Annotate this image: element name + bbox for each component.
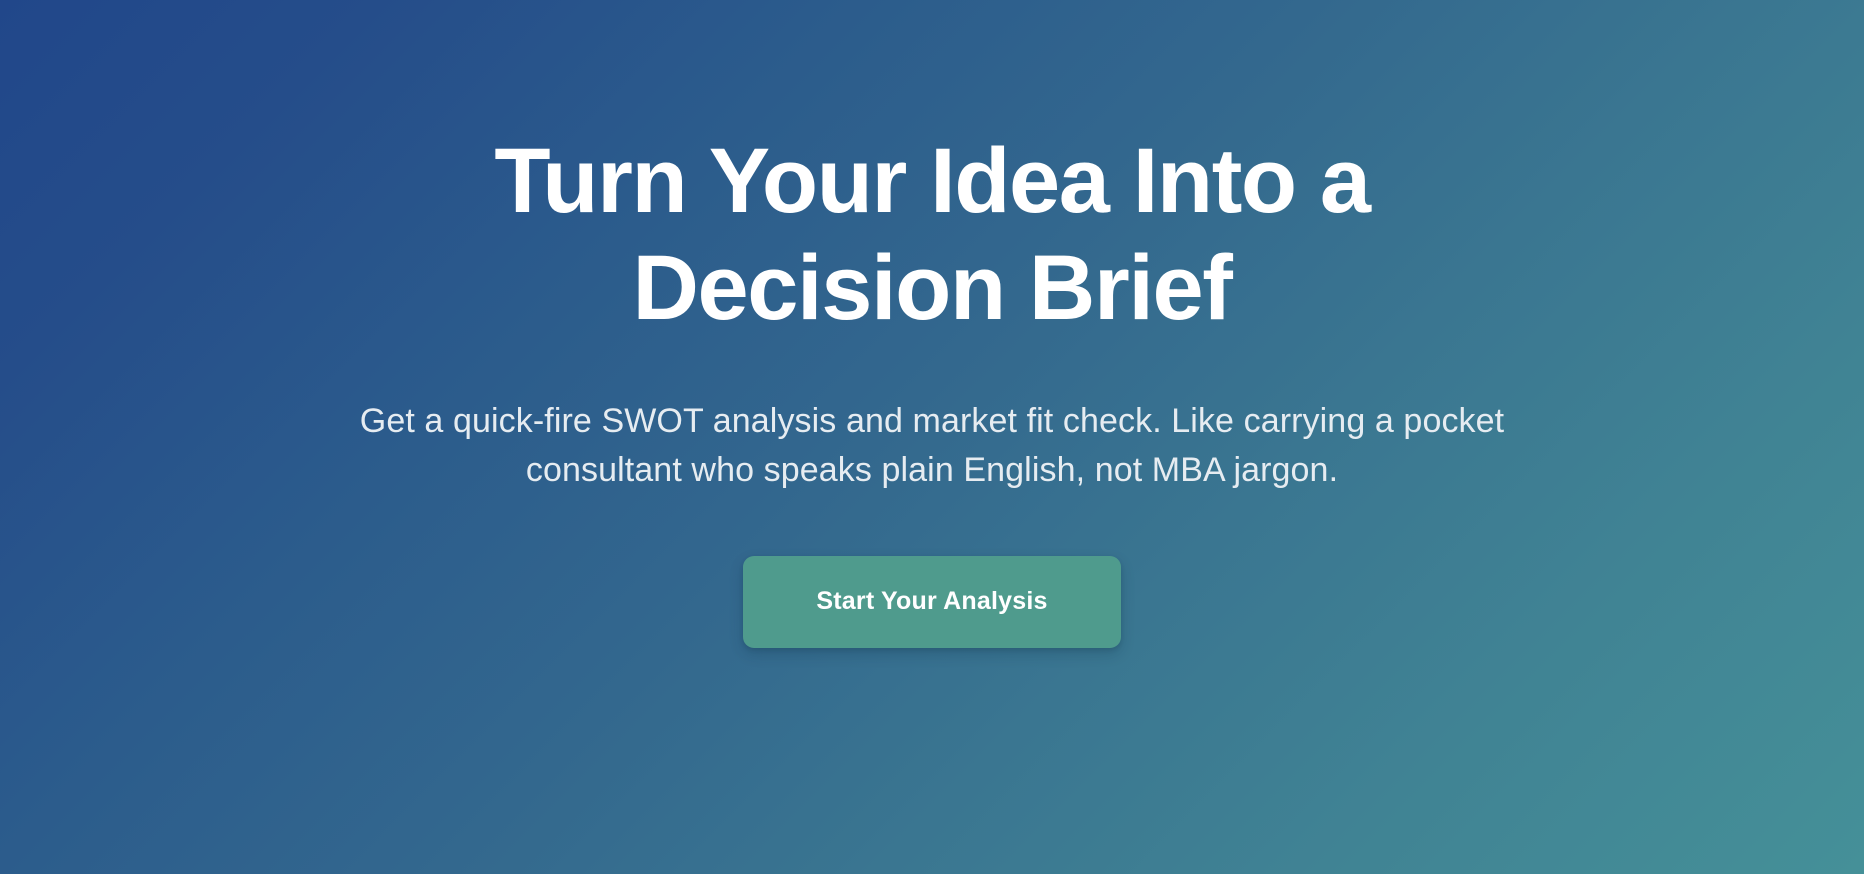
start-analysis-button[interactable]: Start Your Analysis [743, 556, 1121, 648]
cta-container: Start Your Analysis [282, 556, 1582, 648]
headline-line-2: Decision Brief [342, 235, 1522, 342]
headline-line-1: Turn Your Idea Into a [342, 128, 1522, 235]
hero-content: Turn Your Idea Into a Decision Brief Get… [282, 0, 1582, 648]
hero-section: Turn Your Idea Into a Decision Brief Get… [0, 0, 1864, 874]
subtitle-line-2: consultant who speaks plain English, not… [267, 446, 1597, 494]
page-title: Turn Your Idea Into a Decision Brief [342, 0, 1522, 341]
subtitle-line-1: Get a quick-fire SWOT analysis and marke… [267, 397, 1597, 445]
hero-subtitle: Get a quick-fire SWOT analysis and marke… [267, 397, 1597, 494]
